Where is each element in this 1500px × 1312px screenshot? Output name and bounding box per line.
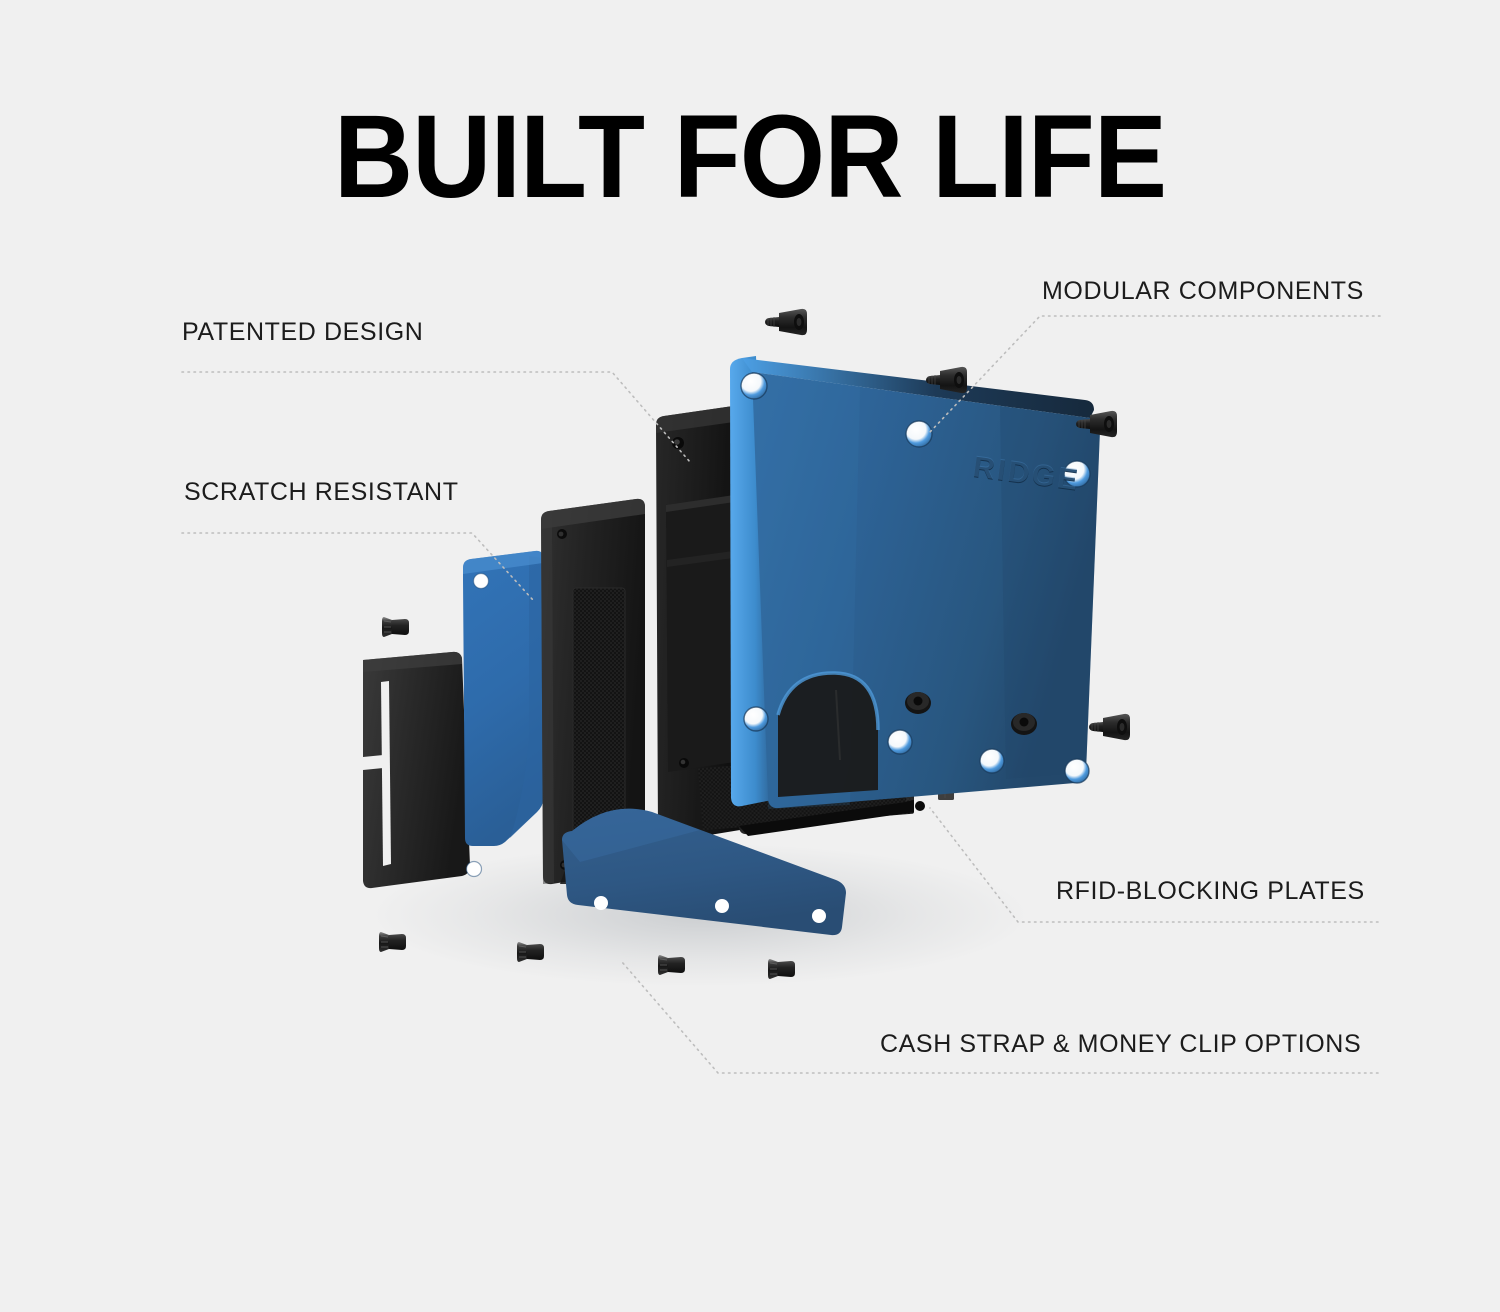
screw-hole [594,896,608,910]
barrel-post [517,942,544,962]
seated-screw [905,692,931,714]
screw [765,309,807,335]
callout-label-rfid-blocking-plates: RFID-BLOCKING PLATES [1056,879,1365,904]
seated-screw [1011,713,1037,735]
component-money-clip-plate [363,652,470,888]
exploded-wallet-illustration: RIDGE RIDGE [0,0,1500,1312]
screw-hole [812,909,826,923]
component-rfid-plate-front [463,551,543,877]
product-diagram-canvas: BUILT FOR LIFE [0,0,1500,1312]
elastic-cash-strap [573,588,625,838]
callout-label-scratch-resistant: SCRATCH RESISTANT [184,480,459,505]
screw-hole [715,899,729,913]
component-aluminum-face-plate: RIDGE RIDGE [730,356,1100,809]
screw [1089,714,1130,740]
callout-label-patented-design: PATENTED DESIGN [182,320,423,345]
callout-label-cash-strap-money-clip: CASH STRAP & MONEY CLIP OPTIONS [880,1032,1361,1057]
barrel-post [658,955,685,975]
barrel-post [382,617,409,637]
callout-label-modular-components: MODULAR COMPONENTS [1042,279,1364,304]
barrel-post [379,932,406,952]
barrel-post [768,959,795,979]
